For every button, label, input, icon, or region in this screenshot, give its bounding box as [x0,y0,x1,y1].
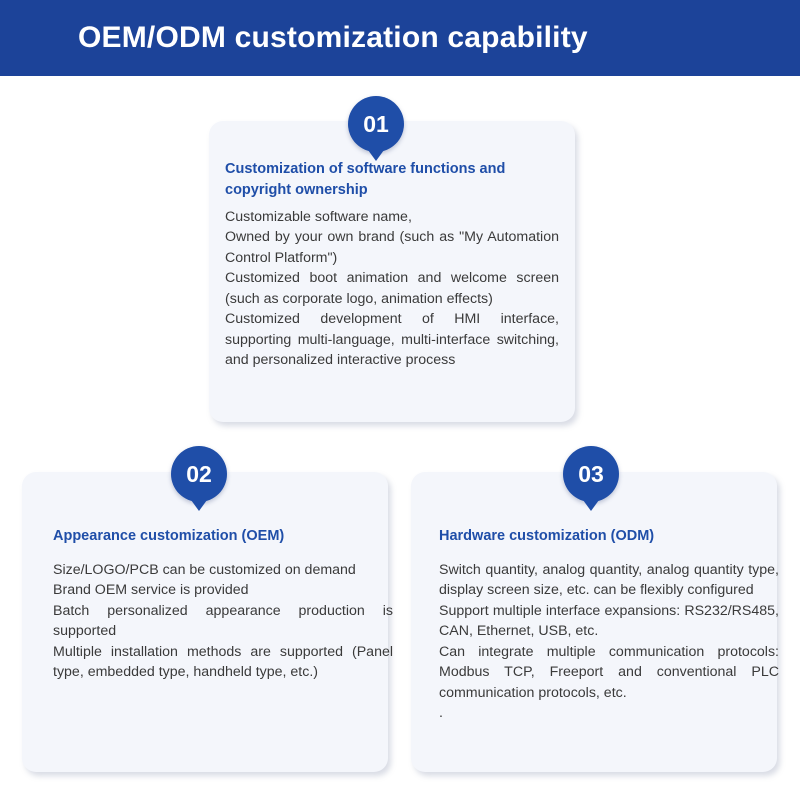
badge-03: 03 [563,446,619,502]
card-03-title: Hardware customization (ODM) [439,526,759,547]
card-02: Appearance customization (OEM) Size/LOGO… [22,472,388,772]
badge-01: 01 [348,96,404,152]
card-01-body: Customizable software name, Owned by you… [225,207,559,371]
card-02-title: Appearance customization (OEM) [53,526,373,547]
card-03: Hardware customization (ODM) Switch quan… [411,472,777,772]
page-title: OEM/ODM customization capability [0,21,588,55]
card-02-body: Size/LOGO/PCB can be customized on deman… [53,560,393,683]
header-bar: OEM/ODM customization capability [0,0,800,76]
card-03-body: Switch quantity, analog quantity, analog… [439,560,779,724]
slide-page: OEM/ODM customization capability Customi… [0,0,800,800]
card-01: Customization of software functions and … [209,121,575,422]
card-01-title: Customization of software functions and … [225,159,555,200]
badge-02: 02 [171,446,227,502]
